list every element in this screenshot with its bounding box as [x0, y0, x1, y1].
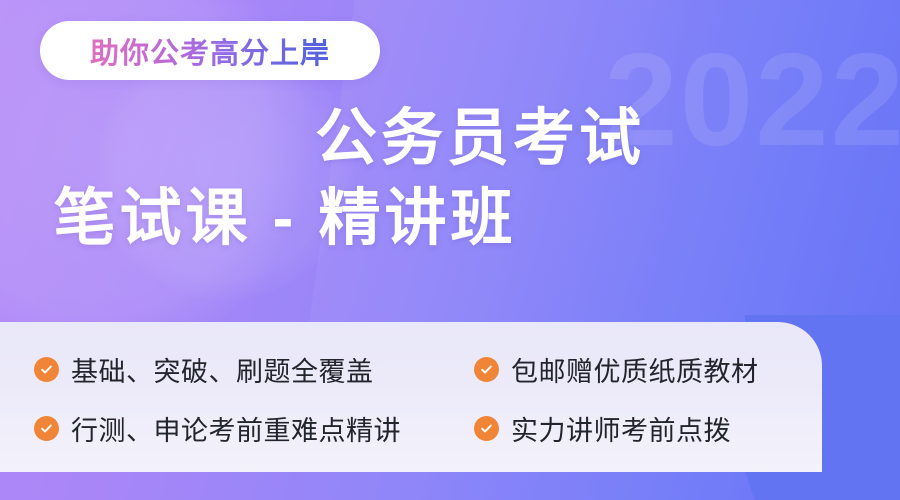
feature-label: 行测、申论考前重难点精讲 [71, 409, 401, 448]
feature-item-3: 行测、申论考前重难点精讲 [34, 409, 474, 448]
feature-item-4: 实力讲师考前点拨 [474, 409, 822, 448]
check-circle-icon [474, 416, 499, 441]
check-circle-icon [474, 357, 499, 382]
tagline-text: 助你公考高分上岸 [90, 30, 330, 72]
feature-panel: 基础、突破、刷题全覆盖 包邮赠优质纸质教材 行测、申论考前重难点精讲 [0, 322, 822, 472]
feature-item-2: 包邮赠优质纸质教材 [474, 350, 822, 389]
feature-label: 实力讲师考前点拨 [511, 409, 731, 448]
feature-grid: 基础、突破、刷题全覆盖 包邮赠优质纸质教材 行测、申论考前重难点精讲 [34, 340, 822, 458]
check-circle-icon [34, 416, 59, 441]
feature-label: 基础、突破、刷题全覆盖 [71, 350, 374, 389]
check-circle-icon [34, 357, 59, 382]
feature-label: 包邮赠优质纸质教材 [511, 350, 759, 389]
course-promo-banner: 2022 助你公考高分上岸 公务员考试 笔试课 - 精讲班 基础、突破、刷题全覆… [0, 0, 900, 500]
title-line-1: 公务员考试 [0, 108, 900, 170]
feature-item-1: 基础、突破、刷题全覆盖 [34, 350, 474, 389]
tagline-badge: 助你公考高分上岸 [40, 21, 380, 80]
title-line-2: 笔试课 - 精讲班 [0, 188, 900, 250]
headline-group: 公务员考试 笔试课 - 精讲班 [0, 108, 900, 250]
